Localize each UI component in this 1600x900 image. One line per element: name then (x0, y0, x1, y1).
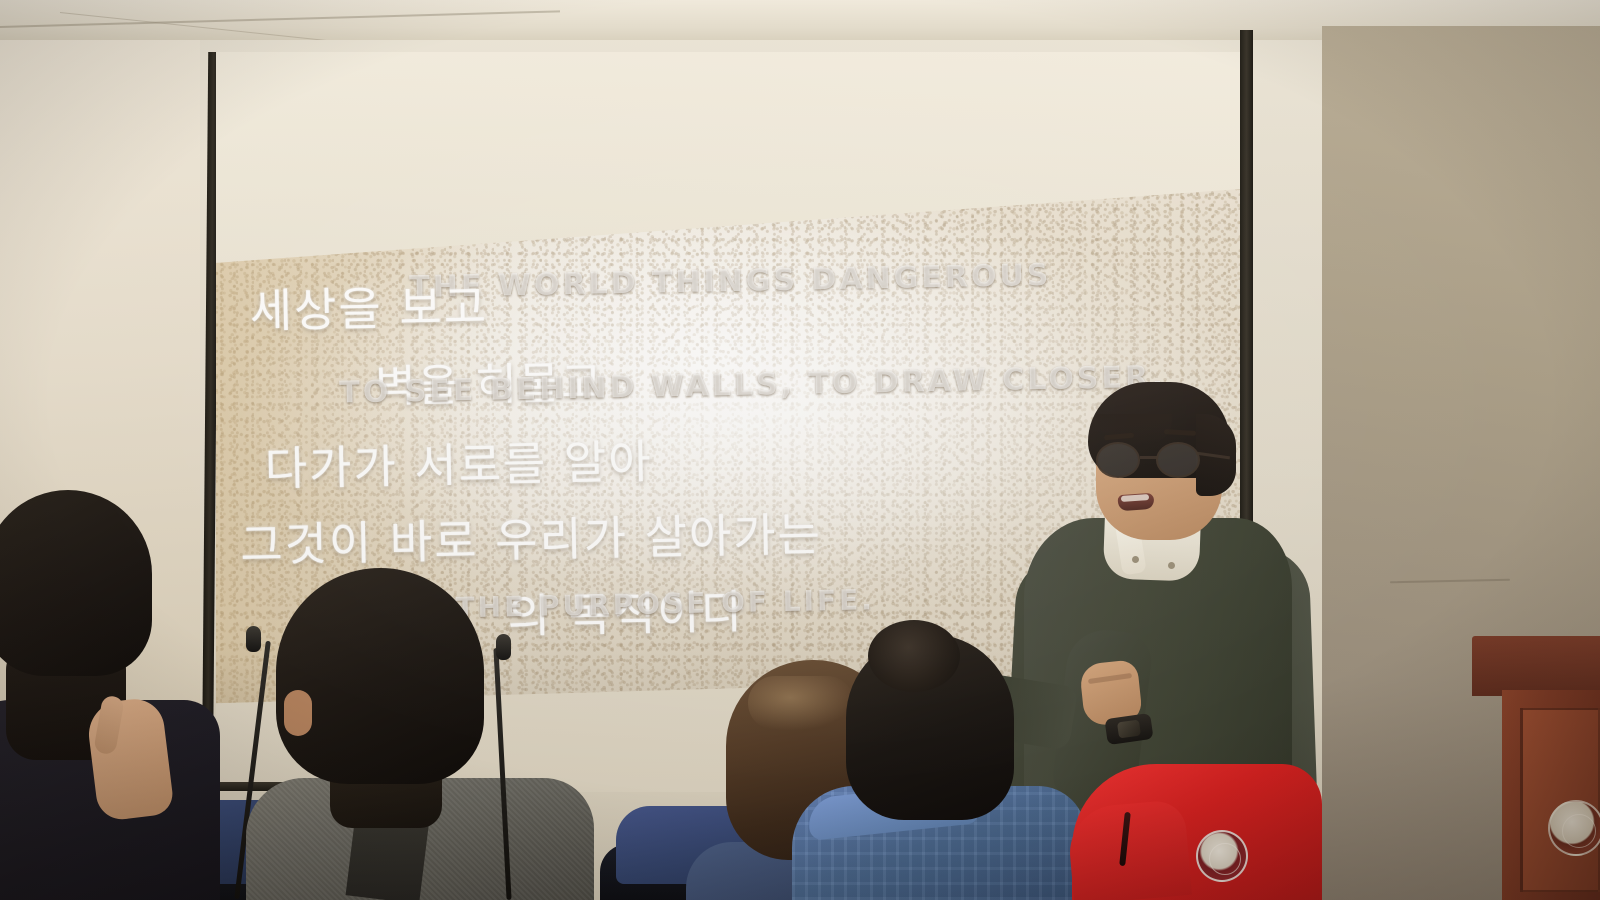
audience-person-tweed-ear (284, 690, 312, 736)
audience-person-bun-knot (868, 620, 960, 692)
microphone-head-right (496, 634, 511, 660)
wristwatch-face (1117, 720, 1141, 739)
podium-top-surface (1472, 636, 1600, 696)
glasses-bridge (1140, 456, 1158, 459)
presenter-collar-button (1132, 556, 1139, 563)
podium-front-panel (1520, 708, 1600, 892)
glasses-temple-arm (1196, 452, 1230, 459)
slide-english-line-3: THE PURPOSE OF LIFE. (455, 583, 875, 624)
audience-person-brown-hair-sheen (748, 676, 854, 730)
podium-seal-emblem (1548, 800, 1600, 856)
slide-korean-line-1: 세상을 보고 (249, 271, 488, 342)
glasses-lens-right (1156, 442, 1200, 478)
jacket-badge-icon (1196, 830, 1248, 882)
slide-english-line-1: THE WORLD THINGS DANGEROUS (409, 258, 1052, 305)
slide-korean-line-3: 다가가 서로를 알아 (264, 425, 653, 498)
audience-person-left-head (0, 490, 152, 676)
glasses-lens-left (1096, 442, 1140, 478)
audience-person-tweed-head (276, 568, 484, 784)
slide-korean-line-4: 그것이 바로 우리가 살아가는 (240, 498, 823, 575)
presenter-collar-button-second (1168, 562, 1175, 569)
microphone-head-left (246, 626, 261, 652)
glasses-icon (1092, 442, 1232, 478)
lecture-room-scene: THE WORLD THINGS DANGEROUS 세상을 보고 벽을 허물고… (0, 0, 1600, 900)
